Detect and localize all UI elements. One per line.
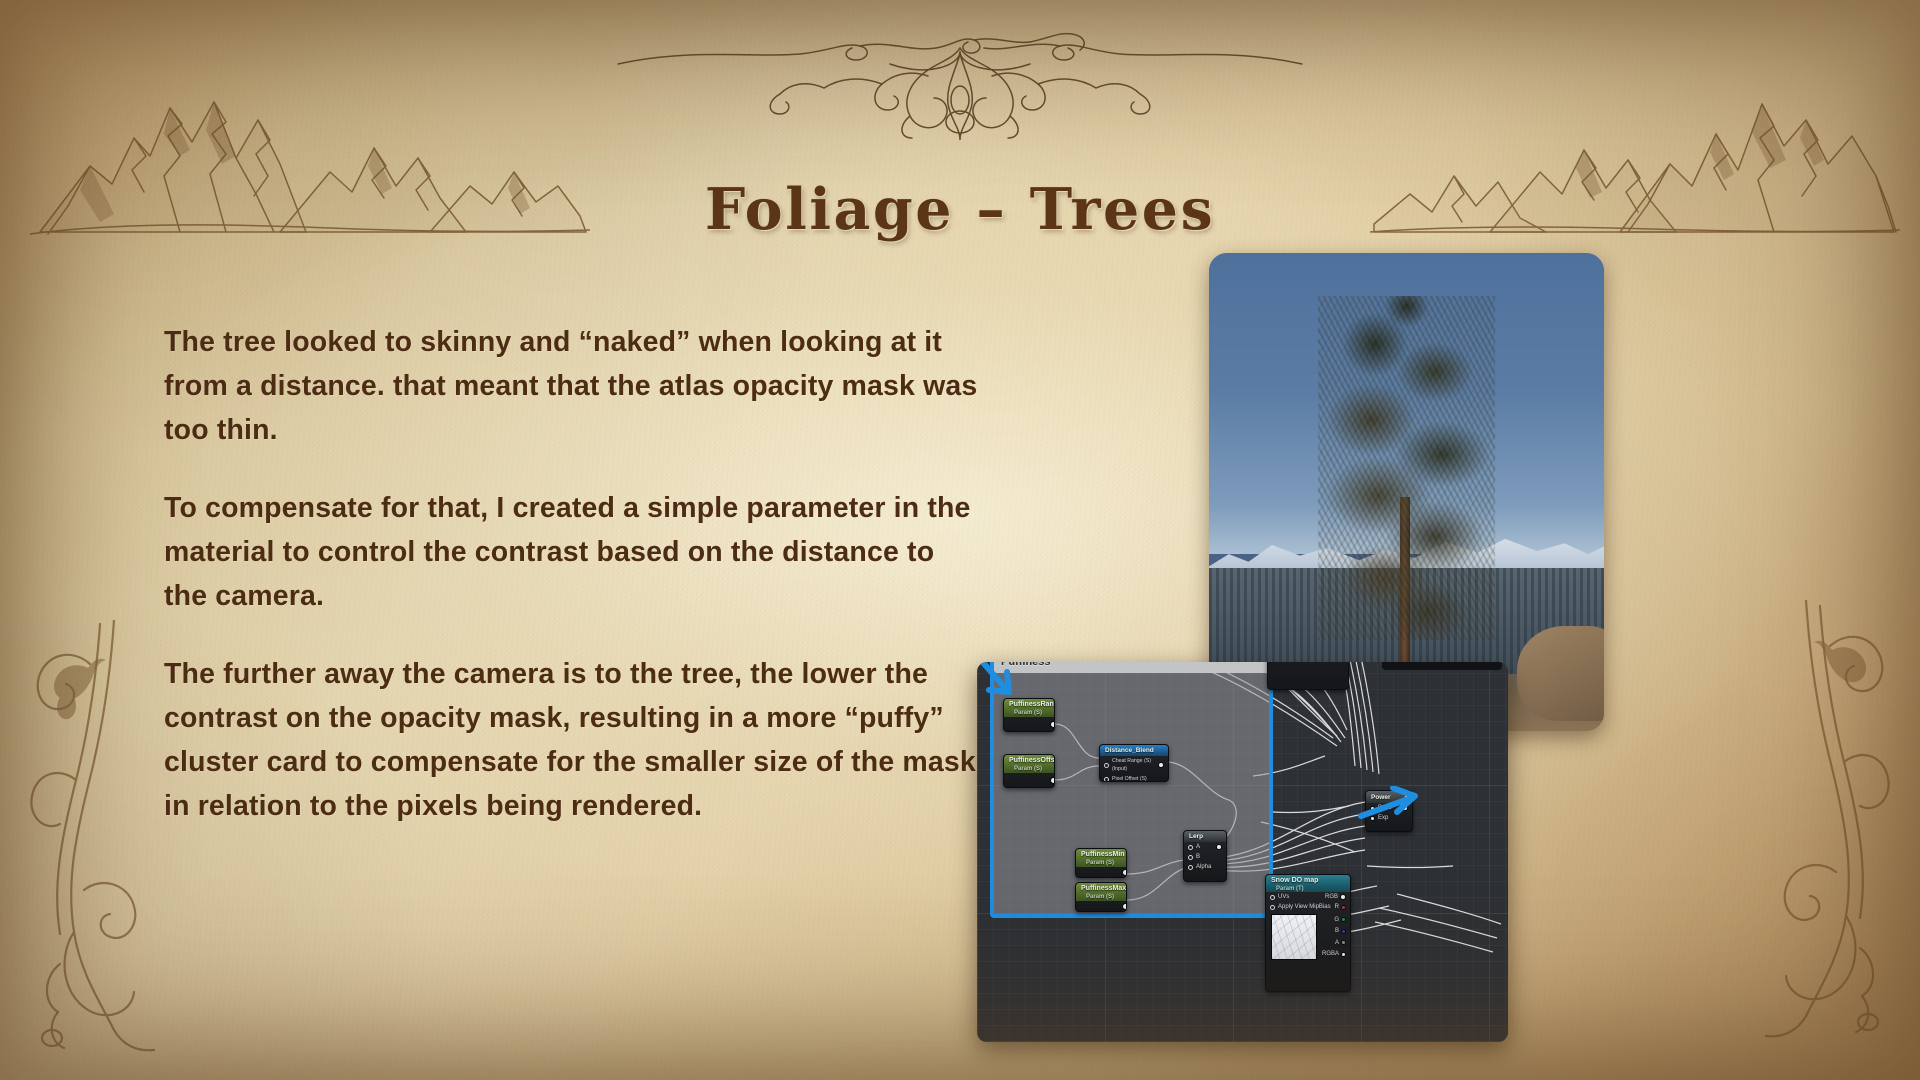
- node-title: Power: [1371, 794, 1391, 802]
- tree-canopy: [1318, 296, 1496, 640]
- texture-thumbnail-normal: [1271, 914, 1317, 960]
- output-pin-b[interactable]: [1341, 929, 1346, 934]
- pin-label: Cheat Range (S) (Input): [1112, 757, 1155, 773]
- pin-row[interactable]: G: [1334, 916, 1346, 924]
- slide-canvas: Foliage – Trees The tree looked to skinn…: [0, 0, 1920, 1080]
- output-pin[interactable]: [1050, 721, 1055, 728]
- output-label: A: [1335, 939, 1339, 947]
- pin-label: Pixel Offset (S): [1112, 775, 1161, 782]
- page-title: Foliage – Trees: [0, 176, 1920, 243]
- unreal-material-node-graph[interactable]: Puffiness PuffinessRange Param (S) Puffi…: [977, 662, 1508, 1042]
- pin-label: B: [1196, 853, 1222, 861]
- pin-row[interactable]: A: [1184, 842, 1226, 852]
- output-label: R: [1335, 903, 1339, 911]
- pin-row[interactable]: B: [1184, 852, 1226, 862]
- input-pin[interactable]: [1104, 763, 1109, 768]
- graph-toolbar-strip-right: [1382, 662, 1502, 670]
- pin-label: Base: [1378, 804, 1402, 812]
- pin-label: A: [1196, 843, 1216, 851]
- input-pin-mipbias[interactable]: [1270, 905, 1275, 910]
- paragraph-3: The further away the camera is to the tr…: [164, 652, 984, 828]
- input-pin-uvs[interactable]: [1270, 895, 1275, 900]
- node-puffiness-offset[interactable]: PuffinessOffset Param (S): [1003, 754, 1055, 788]
- node-title: PuffinessRange: [1009, 701, 1055, 708]
- pin-row[interactable]: Apply View MipBias R: [1266, 902, 1350, 912]
- output-pin[interactable]: [1402, 805, 1408, 811]
- output-pin[interactable]: [1122, 869, 1127, 876]
- node-puffiness-max[interactable]: PuffinessMax Param (S): [1075, 882, 1127, 912]
- paragraph-1: The tree looked to skinny and “naked” wh…: [164, 320, 984, 452]
- node-power[interactable]: Power ▾ Base Exp: [1365, 790, 1413, 832]
- tree-render-screenshot: [1209, 253, 1604, 731]
- body-copy: The tree looked to skinny and “naked” wh…: [164, 320, 984, 828]
- node-texture-bco[interactable]: BCO Param (T) UVs RGB Apply View MipBias…: [1267, 662, 1349, 690]
- output-pin-a[interactable]: [1341, 940, 1346, 945]
- node-puffiness-min[interactable]: PuffinessMin Param (S): [1075, 848, 1127, 878]
- node-puffiness-range[interactable]: PuffinessRange Param (S): [1003, 698, 1055, 732]
- node-distance-blend[interactable]: Distance_Blend Cheat Range (S) (Input) P…: [1099, 744, 1169, 782]
- output-label: RGBA: [1322, 950, 1339, 958]
- paragraph-2: To compensate for that, I created a simp…: [164, 486, 984, 618]
- output-pin[interactable]: [1158, 762, 1164, 768]
- pin-row[interactable]: Pixel Offset (S): [1100, 774, 1168, 782]
- input-pin-base[interactable]: [1370, 806, 1375, 811]
- node-title: Lerp: [1189, 833, 1203, 840]
- node-title: PuffinessOffset: [1009, 757, 1055, 764]
- input-pin-exp[interactable]: [1370, 816, 1375, 821]
- input-pin[interactable]: [1188, 855, 1193, 860]
- comment-box-label: Puffiness: [994, 662, 1269, 673]
- output-pin-g[interactable]: [1341, 917, 1346, 922]
- node-title: Distance_Blend: [1105, 747, 1154, 754]
- node-title: PuffinessMin: [1081, 851, 1125, 858]
- output-label: B: [1335, 927, 1339, 935]
- pin-row[interactable]: Alpha: [1184, 862, 1226, 872]
- input-pin[interactable]: [1104, 777, 1109, 782]
- pin-row[interactable]: RGBA: [1322, 950, 1346, 958]
- pin-row[interactable]: Cheat Range (S) (Input): [1100, 756, 1168, 774]
- pin-row[interactable]: A: [1335, 939, 1346, 947]
- pin-row[interactable]: UVs RGB: [1266, 892, 1350, 902]
- rock: [1517, 626, 1604, 722]
- input-pin[interactable]: [1188, 865, 1193, 870]
- pin-label: Exp: [1378, 814, 1408, 822]
- node-lerp[interactable]: Lerp A B Alpha: [1183, 830, 1227, 882]
- pin-row[interactable]: B: [1335, 927, 1346, 935]
- pin-row[interactable]: Base: [1366, 803, 1412, 813]
- node-title: PuffinessMax: [1081, 885, 1126, 892]
- pin-label: Apply View MipBias: [1278, 903, 1335, 911]
- output-pin-r[interactable]: [1341, 905, 1346, 910]
- pin-label: Alpha: [1196, 863, 1222, 871]
- pin-label: UVs: [1278, 893, 1325, 901]
- output-label: G: [1334, 916, 1339, 924]
- output-label: RGB: [1325, 893, 1338, 901]
- chevron-down-icon[interactable]: ▾: [1405, 794, 1408, 802]
- input-pin[interactable]: [1188, 845, 1193, 850]
- node-texture-snow-do-map[interactable]: Snow DO map Param (T) UVs RGB Apply View…: [1265, 874, 1351, 992]
- output-pin[interactable]: [1050, 777, 1055, 784]
- output-pin[interactable]: [1122, 903, 1127, 910]
- pin-row[interactable]: Exp: [1366, 813, 1412, 823]
- output-pin-rgb[interactable]: [1340, 894, 1346, 900]
- output-pin[interactable]: [1216, 844, 1222, 850]
- output-pin-rgba[interactable]: [1341, 952, 1346, 957]
- node-title: Snow DO map: [1271, 877, 1318, 884]
